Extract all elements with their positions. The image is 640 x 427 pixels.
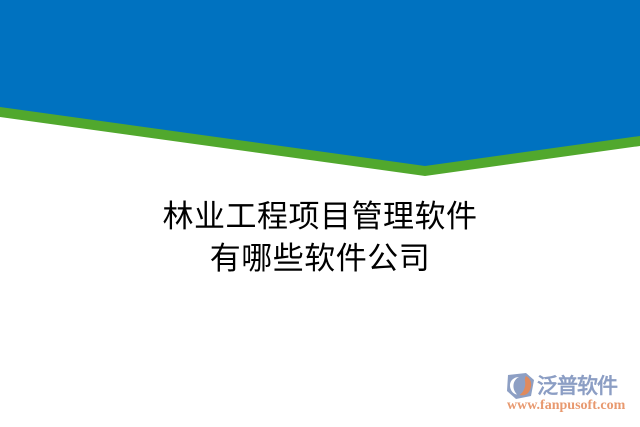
brand-logo-row: 泛普软件 <box>506 372 617 400</box>
brand-logo: 泛普软件 www.fanpusoft.com <box>506 372 636 418</box>
page-title: 林业工程项目管理软件 有哪些软件公司 <box>0 196 640 280</box>
page-title-line-1: 林业工程项目管理软件 <box>0 196 640 238</box>
brand-url: www.fanpusoft.com <box>507 398 625 414</box>
brand-wordmark: 泛普软件 <box>537 376 617 397</box>
slide-canvas: 林业工程项目管理软件 有哪些软件公司 泛普软件 www.fanpusoft.co… <box>0 0 640 427</box>
fanpu-pentagon-swoosh-icon <box>506 372 536 400</box>
page-title-line-2: 有哪些软件公司 <box>0 238 640 280</box>
decorative-chevron-banner <box>0 0 640 180</box>
chevron-blue-shape <box>0 0 640 166</box>
